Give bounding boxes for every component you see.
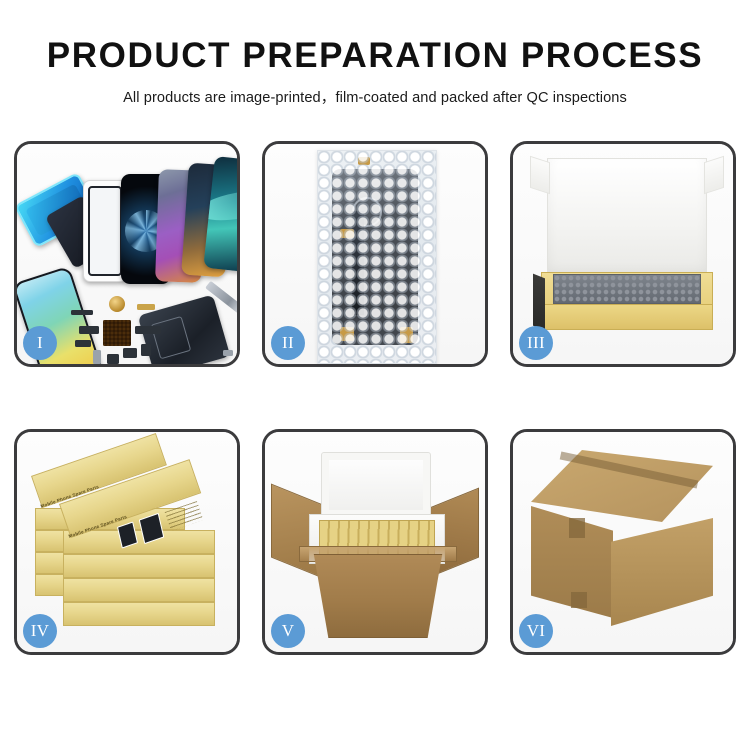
tape-tab: [400, 327, 413, 343]
tape-tab: [340, 229, 354, 238]
step-badge-6: VI: [519, 614, 553, 648]
step-panel-2[interactable]: II: [262, 141, 488, 367]
step-badge-5: V: [271, 614, 305, 648]
step-panel-6[interactable]: VI: [510, 429, 736, 655]
step-badge-1: I: [23, 326, 57, 360]
step-badge-4: IV: [23, 614, 57, 648]
small-part: [107, 354, 119, 364]
small-part: [141, 344, 151, 356]
gold-coin-part: [109, 296, 125, 312]
flex-cable: [352, 211, 364, 315]
small-part: [71, 310, 93, 315]
step-badge-3: III: [519, 326, 553, 360]
bubble-wrap-sleeve: [317, 150, 437, 364]
small-part: [137, 304, 155, 310]
stacked-box: [63, 602, 215, 626]
process-step-grid: I II: [14, 141, 736, 655]
tape-tab: [358, 157, 370, 165]
carton-tape-lower: [571, 592, 587, 608]
page-header: PRODUCT PREPARATION PROCESS All products…: [0, 0, 750, 107]
gray-foam-insert: [553, 274, 701, 304]
product-preparation-page: PRODUCT PREPARATION PROCESS All products…: [0, 0, 750, 750]
step-panel-5[interactable]: V: [262, 429, 488, 655]
box-stack: Mobile Phone Spare Parts Mobile Phone Sp…: [27, 452, 233, 642]
foam-cooler-lid: [321, 452, 431, 518]
wrapped-display-assembly: [332, 169, 418, 345]
small-part: [135, 326, 161, 334]
small-part: [75, 340, 91, 347]
page-subtitle: All products are image-printed，film-coat…: [0, 86, 750, 107]
small-part: [123, 348, 137, 358]
page-title: PRODUCT PREPARATION PROCESS: [0, 38, 750, 75]
carton-body: [305, 554, 451, 638]
small-part: [93, 350, 101, 364]
box-spec-lines: [165, 501, 204, 531]
small-part: [223, 350, 233, 356]
stacked-box: [63, 578, 215, 602]
step-panel-4[interactable]: Mobile Phone Spare Parts Mobile Phone Sp…: [14, 429, 240, 655]
carton-tape-upper: [569, 518, 585, 538]
chip-part: [103, 320, 131, 346]
white-box-lid: [547, 158, 707, 278]
box-side-shadow: [533, 274, 545, 331]
yellow-box-front: [541, 304, 713, 330]
stacked-box: [63, 554, 215, 578]
stacked-box: [63, 530, 215, 554]
step-panel-1[interactable]: I: [14, 141, 240, 367]
step-panel-3[interactable]: III: [510, 141, 736, 367]
small-part: [79, 326, 99, 334]
carton-right-face: [611, 518, 713, 626]
step-badge-2: II: [271, 326, 305, 360]
tape-tab: [340, 327, 354, 341]
